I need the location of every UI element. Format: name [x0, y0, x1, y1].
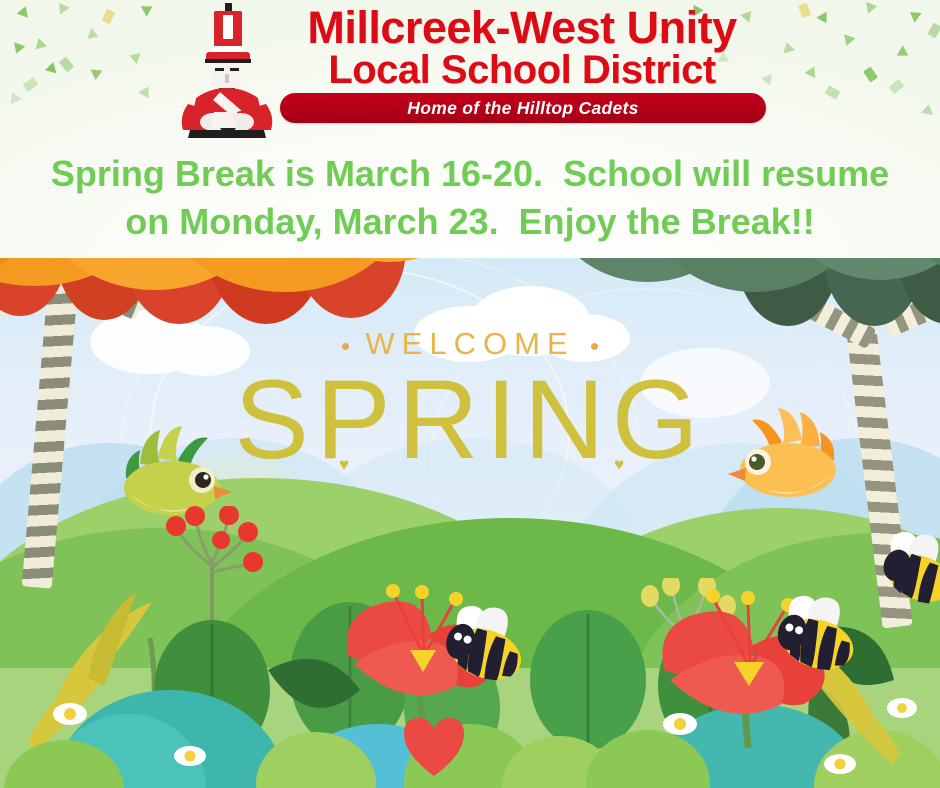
- welcome-spring-illustration: WELCOME SPRING ♥ ♥: [0, 258, 940, 788]
- bee-right-icon: [760, 594, 870, 684]
- daisy: [887, 698, 917, 718]
- district-name-line2: Local School District: [262, 51, 782, 90]
- bee-center-icon: [428, 604, 538, 694]
- district-header: Millcreek-West Unity Local School Distri…: [0, 0, 940, 258]
- bee-top-right-icon: [866, 532, 940, 616]
- red-heart-bud-icon: [390, 698, 480, 788]
- spring-break-announcement-poster: Millcreek-West Unity Local School Distri…: [0, 0, 940, 788]
- announcement-text: Spring Break is March 16-20. School will…: [0, 142, 940, 254]
- tagline-text: Home of the Hilltop Cadets: [407, 98, 638, 119]
- tagline-banner: Home of the Hilltop Cadets: [280, 93, 766, 123]
- right-orange-bird-icon: [724, 398, 864, 508]
- cloud: [160, 326, 250, 376]
- heart-icon-left: ♥: [339, 456, 354, 470]
- announcement-line-1: Spring Break is March 16-20. School will…: [51, 150, 889, 198]
- district-name-line1: Millcreek-West Unity: [262, 6, 782, 50]
- daisy: [174, 746, 206, 766]
- district-name: Millcreek-West Unity Local School Distri…: [262, 6, 782, 90]
- cloud: [540, 314, 630, 362]
- daisy: [53, 703, 87, 725]
- daisy: [824, 754, 856, 774]
- heart-icon-right: ♥: [614, 456, 629, 470]
- announcement-line-2: on Monday, March 23. Enjoy the Break!!: [125, 198, 814, 246]
